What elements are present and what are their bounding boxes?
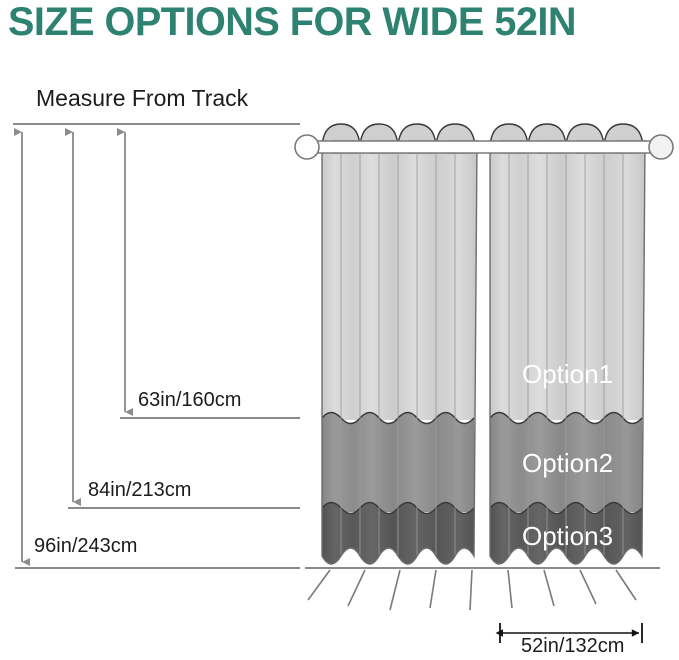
floor-hatching (305, 568, 660, 610)
panel-left-band-option1 (322, 140, 477, 420)
curtain-panel-left (322, 124, 477, 575)
panel-left-band-option3 (322, 503, 477, 576)
diagram-artwork: Option1 Option2 Option3 (0, 0, 679, 660)
panel-label-option2: Option2 (522, 448, 613, 478)
curtain-panel-right (490, 124, 645, 575)
width-dimension (500, 623, 642, 643)
panel-label-option1: Option1 (522, 359, 613, 389)
size-options-diagram: SIZE OPTIONS FOR WIDE 52IN Measure From … (0, 0, 679, 660)
panel-label-option3: Option3 (522, 521, 613, 551)
measurement-guides (13, 124, 300, 568)
finial-left-icon (295, 135, 319, 159)
finial-right-icon (649, 135, 673, 159)
panel-left-band-option2 (322, 413, 477, 513)
